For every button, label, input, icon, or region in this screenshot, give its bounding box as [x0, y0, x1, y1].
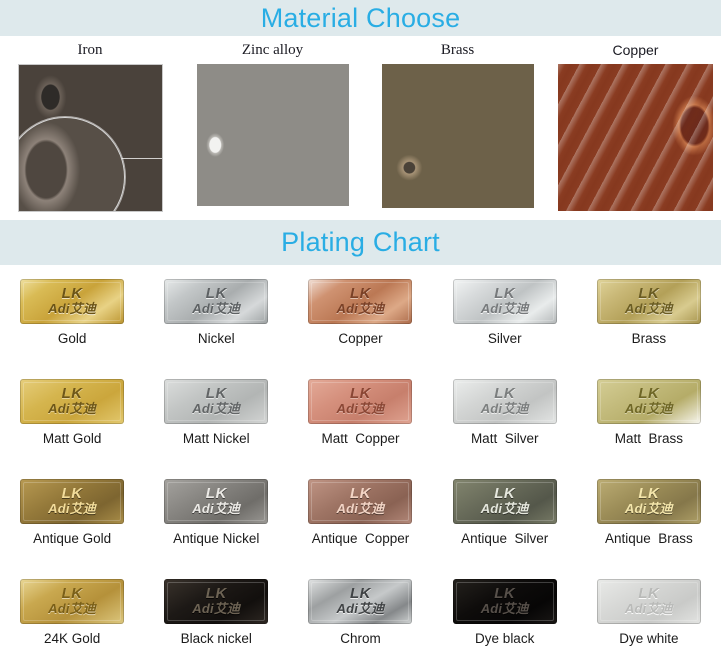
- brand-logo-adi: Adi艾迪: [48, 402, 96, 416]
- plating-swatch-plate[interactable]: LKAdi艾迪: [597, 579, 701, 624]
- zinc-bars-image: [197, 64, 349, 206]
- plating-swatch[interactable]: LKAdi艾迪Antique Copper: [288, 479, 432, 579]
- brand-logo-adi: Adi艾迪: [481, 402, 529, 416]
- brand-logo-lk: LK: [350, 587, 371, 601]
- brand-logo-lk: LK: [350, 387, 371, 401]
- plating-swatch-plate[interactable]: LKAdi艾迪: [597, 479, 701, 524]
- plating-swatch-plate[interactable]: LKAdi艾迪: [453, 279, 557, 324]
- brand-logo-adi: Adi艾迪: [625, 502, 673, 516]
- brand-logo-lk: LK: [62, 587, 83, 601]
- plating-swatch[interactable]: LKAdi艾迪Black nickel: [144, 579, 288, 666]
- plating-swatch-plate[interactable]: LKAdi艾迪: [308, 279, 412, 324]
- plating-swatch-label: 24K Gold: [44, 631, 100, 646]
- material-item-copper[interactable]: Copper: [550, 36, 721, 214]
- brand-logo-adi: Adi艾迪: [481, 602, 529, 616]
- plating-swatch-plate[interactable]: LKAdi艾迪: [453, 379, 557, 424]
- plating-swatch-label: Matt Silver: [471, 431, 539, 446]
- brand-logo-lk: LK: [638, 487, 659, 501]
- brand-logo-lk: LK: [494, 587, 515, 601]
- plating-swatch[interactable]: LKAdi艾迪Antique Gold: [0, 479, 144, 579]
- material-choose-header: Material Choose: [0, 0, 721, 36]
- plating-swatch[interactable]: LKAdi艾迪Antique Brass: [577, 479, 721, 579]
- plating-swatch[interactable]: LKAdi艾迪Matt Brass: [577, 379, 721, 479]
- plating-swatch[interactable]: LKAdi艾迪Dye white: [577, 579, 721, 666]
- plating-swatch-label: Copper: [338, 331, 382, 346]
- plating-swatch-plate[interactable]: LKAdi艾迪: [164, 379, 268, 424]
- plating-swatch[interactable]: LKAdi艾迪Antique Nickel: [144, 479, 288, 579]
- plating-swatch-label: Brass: [632, 331, 667, 346]
- plating-swatch-plate[interactable]: LKAdi艾迪: [453, 479, 557, 524]
- plating-swatch-label: Antique Copper: [312, 531, 410, 546]
- iron-pipes-image: [19, 65, 162, 211]
- plating-swatch[interactable]: LKAdi艾迪Matt Copper: [288, 379, 432, 479]
- plating-swatch-plate[interactable]: LKAdi艾迪: [20, 279, 124, 324]
- plating-swatch-plate[interactable]: LKAdi艾迪: [20, 579, 124, 624]
- plating-swatch[interactable]: LKAdi艾迪Matt Gold: [0, 379, 144, 479]
- plating-swatch-grid: LKAdi艾迪GoldLKAdi艾迪NickelLKAdi艾迪CopperLKA…: [0, 265, 721, 666]
- plating-swatch-plate[interactable]: LKAdi艾迪: [308, 479, 412, 524]
- plating-swatch-label: Matt Nickel: [183, 431, 250, 446]
- plating-swatch-label: Dye white: [619, 631, 678, 646]
- plating-swatch-label: Matt Gold: [43, 431, 102, 446]
- material-label-copper: Copper: [613, 40, 659, 60]
- material-label-iron: Iron: [78, 40, 103, 60]
- plating-swatch-label: Antique Nickel: [173, 531, 259, 546]
- brand-logo-lk: LK: [206, 387, 227, 401]
- plating-swatch-label: Nickel: [198, 331, 235, 346]
- plating-swatch-label: Chrom: [340, 631, 381, 646]
- plating-swatch[interactable]: LKAdi艾迪24K Gold: [0, 579, 144, 666]
- plating-swatch[interactable]: LKAdi艾迪Silver: [433, 279, 577, 379]
- material-image-zinc-alloy: [197, 64, 349, 206]
- copper-tubes-image: [558, 64, 713, 211]
- material-image-iron: [18, 64, 163, 212]
- brand-logo-adi: Adi艾迪: [192, 402, 240, 416]
- brand-logo-lk: LK: [350, 487, 371, 501]
- plating-swatch[interactable]: LKAdi艾迪Brass: [577, 279, 721, 379]
- plating-swatch-plate[interactable]: LKAdi艾迪: [308, 379, 412, 424]
- plating-swatch-plate[interactable]: LKAdi艾迪: [308, 579, 412, 624]
- brand-logo-adi: Adi艾迪: [48, 602, 96, 616]
- brass-tubes-image: [382, 64, 534, 208]
- brand-logo-lk: LK: [62, 287, 83, 301]
- brand-logo-adi: Adi艾迪: [337, 502, 385, 516]
- plating-swatch[interactable]: LKAdi艾迪Nickel: [144, 279, 288, 379]
- plating-swatch[interactable]: LKAdi艾迪Copper: [288, 279, 432, 379]
- plating-swatch-label: Antique Gold: [33, 531, 111, 546]
- material-choose-title: Material Choose: [261, 3, 461, 34]
- brand-logo-adi: Adi艾迪: [625, 302, 673, 316]
- brand-logo-lk: LK: [206, 287, 227, 301]
- plating-chart-header: Plating Chart: [0, 220, 721, 265]
- plating-swatch-label: Gold: [58, 331, 87, 346]
- brand-logo-adi: Adi艾迪: [337, 402, 385, 416]
- brand-logo-adi: Adi艾迪: [192, 302, 240, 316]
- brand-logo-lk: LK: [206, 587, 227, 601]
- plating-swatch-plate[interactable]: LKAdi艾迪: [20, 479, 124, 524]
- material-label-brass: Brass: [441, 40, 474, 60]
- brand-logo-adi: Adi艾迪: [337, 302, 385, 316]
- brand-logo-lk: LK: [494, 287, 515, 301]
- material-image-copper: [558, 64, 713, 211]
- brand-logo-adi: Adi艾迪: [192, 602, 240, 616]
- material-item-iron[interactable]: Iron: [0, 36, 180, 214]
- brand-logo-adi: Adi艾迪: [625, 602, 673, 616]
- brand-logo-lk: LK: [62, 387, 83, 401]
- plating-swatch-label: Silver: [488, 331, 522, 346]
- plating-swatch[interactable]: LKAdi艾迪Gold: [0, 279, 144, 379]
- material-list: Iron Zinc alloy Brass Copper: [0, 36, 721, 214]
- plating-swatch-plate[interactable]: LKAdi艾迪: [597, 279, 701, 324]
- plating-swatch-label: Black nickel: [181, 631, 252, 646]
- plating-swatch-plate[interactable]: LKAdi艾迪: [164, 479, 268, 524]
- brand-logo-adi: Adi艾迪: [48, 502, 96, 516]
- brand-logo-lk: LK: [206, 487, 227, 501]
- brand-logo-lk: LK: [350, 287, 371, 301]
- brand-logo-lk: LK: [638, 587, 659, 601]
- plating-swatch[interactable]: LKAdi艾迪Matt Silver: [433, 379, 577, 479]
- plating-swatch-plate[interactable]: LKAdi艾迪: [164, 279, 268, 324]
- material-item-zinc-alloy[interactable]: Zinc alloy: [180, 36, 365, 214]
- plating-swatch-plate[interactable]: LKAdi艾迪: [453, 579, 557, 624]
- page-root: Material Choose Iron Zinc alloy Brass: [0, 0, 721, 666]
- plating-swatch[interactable]: LKAdi艾迪Antique Silver: [433, 479, 577, 579]
- brand-logo-adi: Adi艾迪: [625, 402, 673, 416]
- plating-swatch-label: Matt Brass: [615, 431, 683, 446]
- plating-swatch-label: Antique Silver: [461, 531, 548, 546]
- plating-swatch-plate[interactable]: LKAdi艾迪: [597, 379, 701, 424]
- material-image-brass: [382, 64, 534, 208]
- plating-swatch[interactable]: LKAdi艾迪Chrom: [288, 579, 432, 666]
- plating-swatch-plate[interactable]: LKAdi艾迪: [20, 379, 124, 424]
- material-label-zinc-alloy: Zinc alloy: [242, 40, 303, 60]
- plating-swatch-label: Antique Brass: [605, 531, 693, 546]
- brand-logo-lk: LK: [494, 487, 515, 501]
- brand-logo-adi: Adi艾迪: [48, 302, 96, 316]
- material-item-brass[interactable]: Brass: [365, 36, 550, 214]
- brand-logo-adi: Adi艾迪: [481, 502, 529, 516]
- plating-swatch-plate[interactable]: LKAdi艾迪: [164, 579, 268, 624]
- brand-logo-lk: LK: [638, 287, 659, 301]
- brand-logo-lk: LK: [638, 387, 659, 401]
- brand-logo-adi: Adi艾迪: [481, 302, 529, 316]
- plating-swatch[interactable]: LKAdi艾迪Dye black: [433, 579, 577, 666]
- brand-logo-adi: Adi艾迪: [192, 502, 240, 516]
- plating-swatch[interactable]: LKAdi艾迪Matt Nickel: [144, 379, 288, 479]
- brand-logo-adi: Adi艾迪: [337, 602, 385, 616]
- plating-swatch-label: Dye black: [475, 631, 534, 646]
- brand-logo-lk: LK: [62, 487, 83, 501]
- plating-chart-title: Plating Chart: [281, 227, 440, 258]
- brand-logo-lk: LK: [494, 387, 515, 401]
- plating-swatch-label: Matt Copper: [321, 431, 399, 446]
